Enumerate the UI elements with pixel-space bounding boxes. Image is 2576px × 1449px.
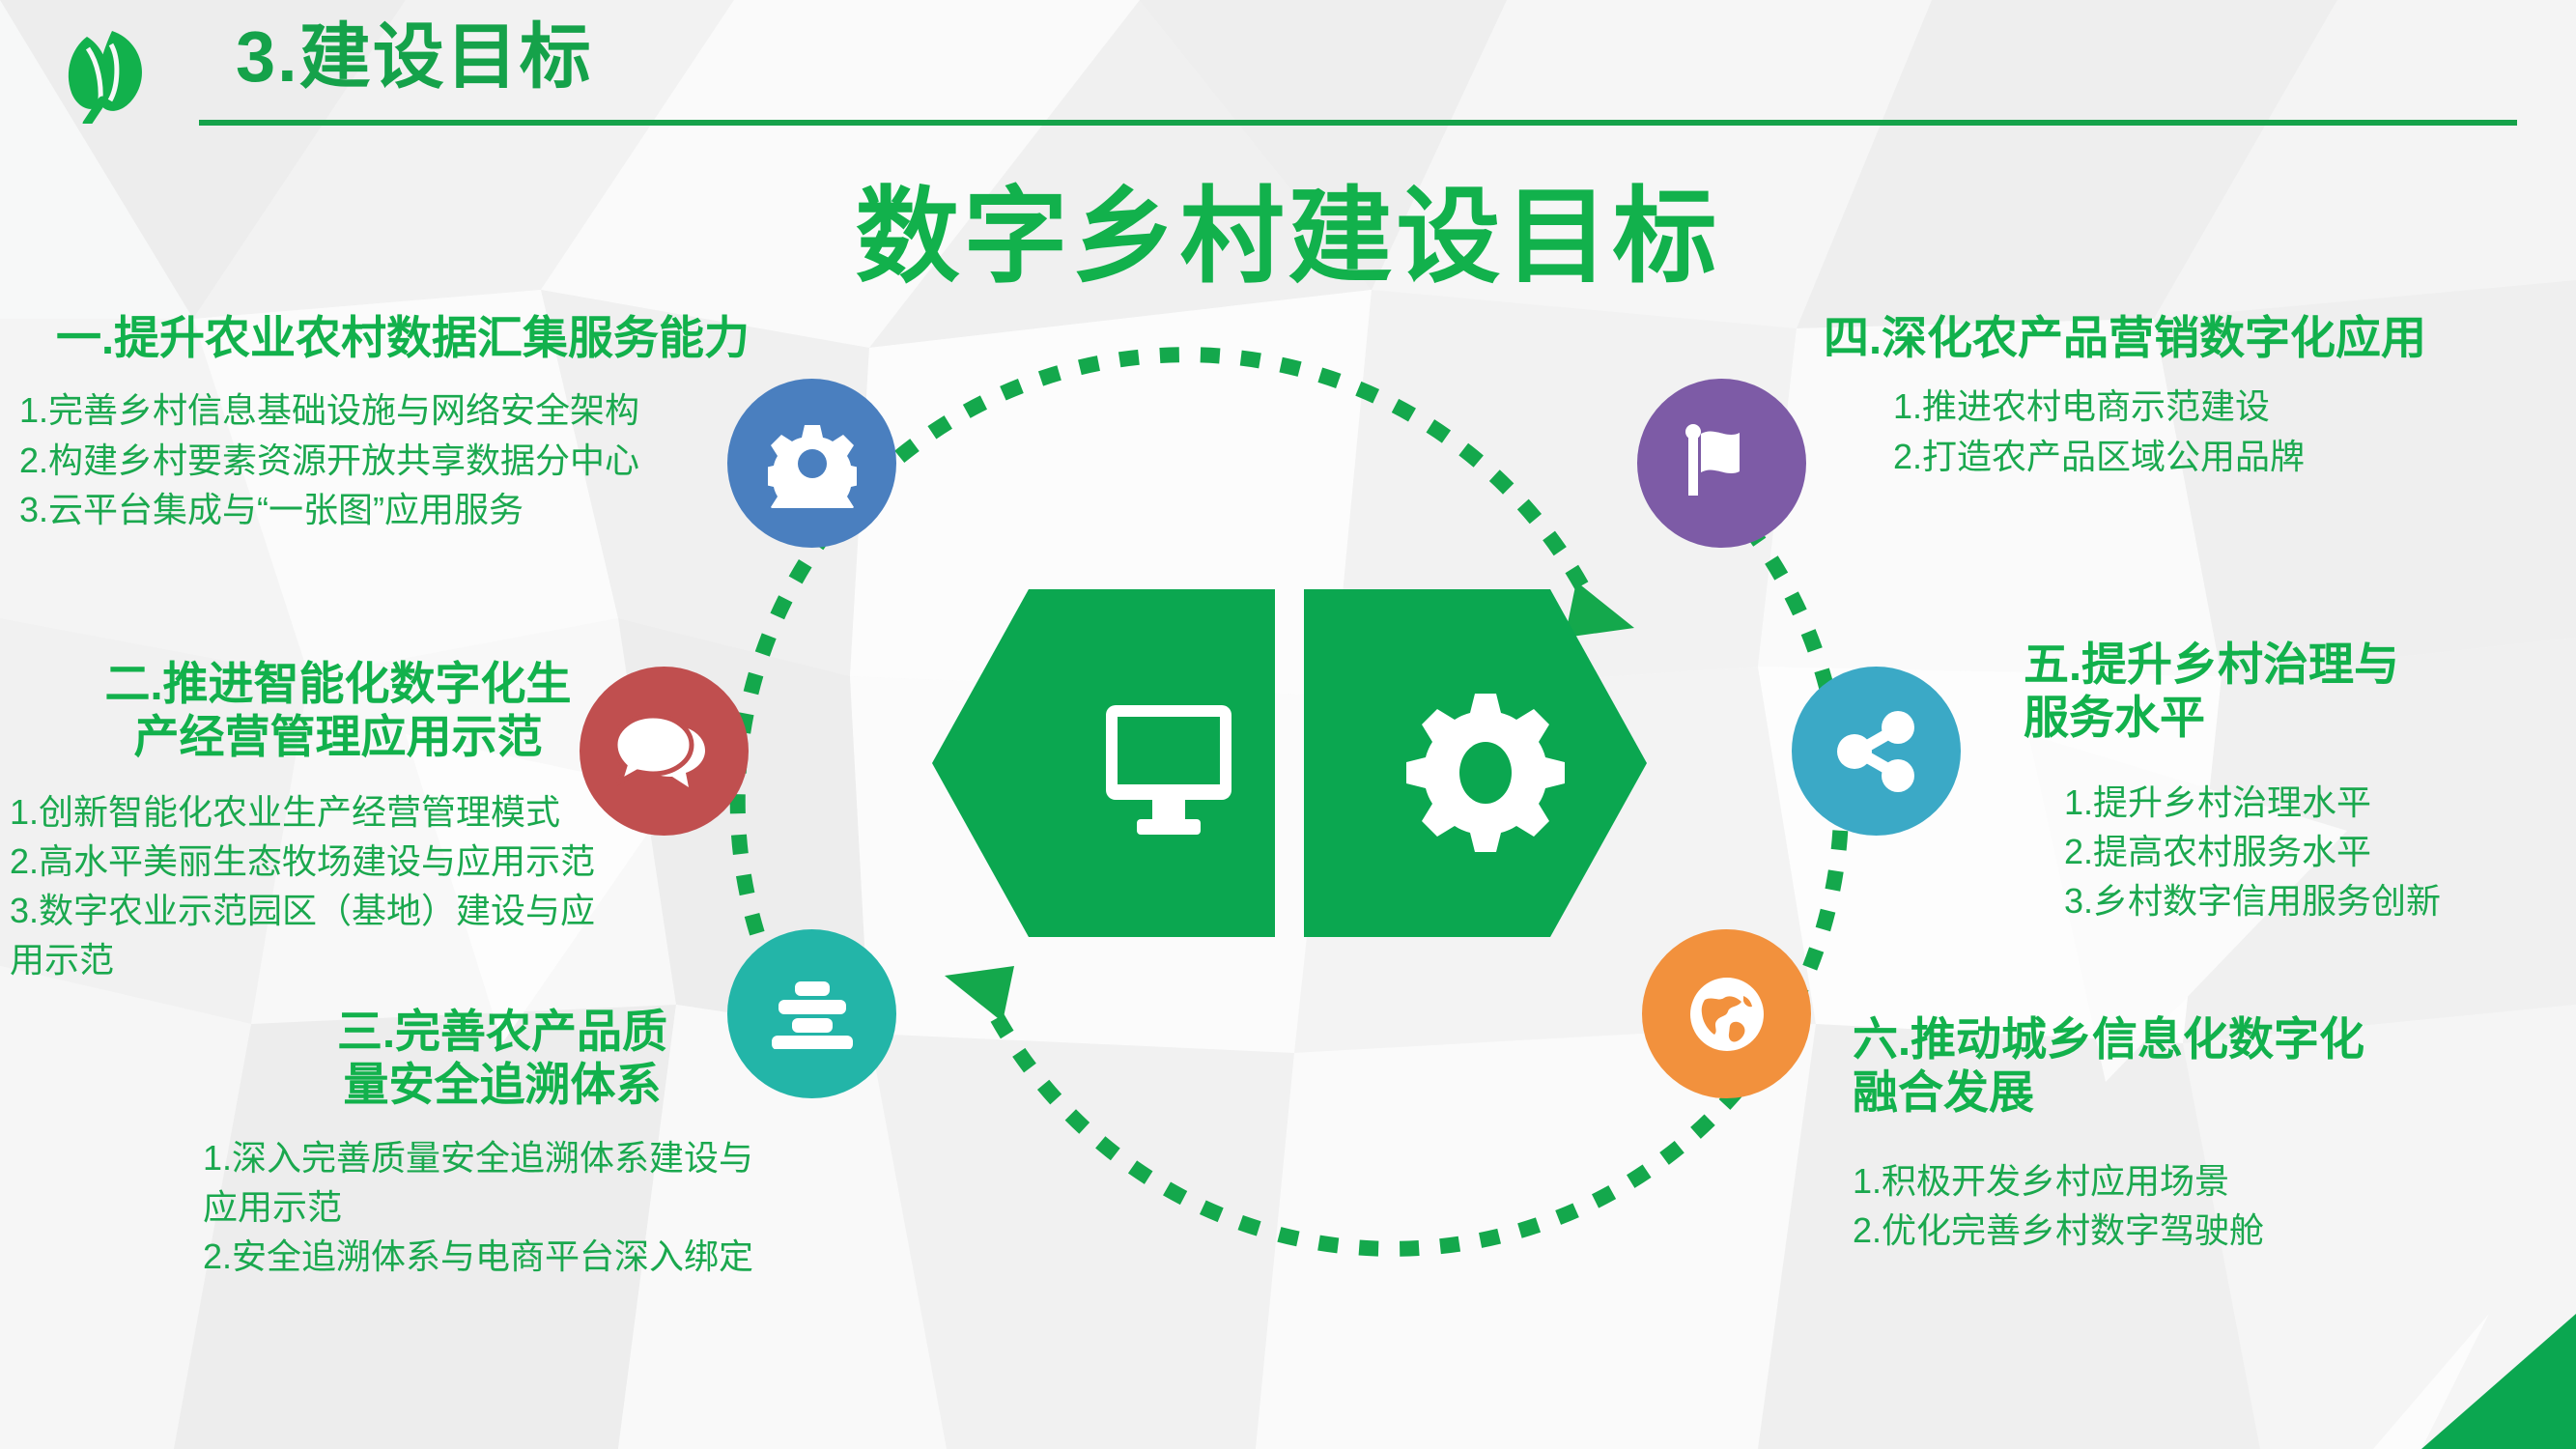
section-5-heading: 五.提升乡村治理与 服务水平 xyxy=(2024,638,2564,745)
section-block-3: 三.完善农产品质 量安全追溯体系 1.深入完善质量安全追溯体系建设与 应用示范 … xyxy=(164,1005,840,1281)
list-item: 2.提高农村服务水平 xyxy=(2064,827,2564,876)
section-4-heading: 四.深化农产品营销数字化应用 xyxy=(1729,311,2521,364)
slide-canvas: 3.建设目标 数字乡村建设目标 xyxy=(0,0,2576,1449)
section-1-heading: 一.提升农业农村数据汇集服务能力 xyxy=(19,311,918,364)
slide-header: 3.建设目标 xyxy=(0,0,2576,143)
list-item: 3.云平台集成与“一张图”应用服务 xyxy=(19,485,918,534)
section-block-1: 一.提升农业农村数据汇集服务能力 1.完善乡村信息基础设施与网络安全架构 2.构… xyxy=(19,311,918,534)
section-block-4: 四.深化农产品营销数字化应用 1.推进农村电商示范建设 2.打造农产品区域公用品… xyxy=(1729,311,2521,481)
header-divider xyxy=(199,120,2517,126)
list-item: 1.提升乡村治理水平 xyxy=(2064,778,2564,827)
list-item: 1.创新智能化农业生产经营管理模式 xyxy=(10,787,666,837)
leaf-icon xyxy=(58,15,164,124)
section-block-2: 二.推进智能化数字化生 产经营管理应用示范 1.创新智能化农业生产经营管理模式 … xyxy=(10,657,666,984)
list-item: 1.推进农村电商示范建设 xyxy=(1893,382,2521,431)
section-2-heading: 二.推进智能化数字化生 产经营管理应用示范 xyxy=(10,657,666,764)
section-3-heading: 三.完善农产品质 量安全追溯体系 xyxy=(164,1005,840,1112)
page-title: 3.建设目标 xyxy=(236,17,593,96)
gear-icon xyxy=(1406,694,1565,852)
main-title: 数字乡村建设目标 xyxy=(0,153,2576,303)
list-item: 应用示范 xyxy=(203,1182,840,1232)
list-item: 2.打造农产品区域公用品牌 xyxy=(1893,432,2521,481)
node-circle-6[interactable] xyxy=(1642,929,1811,1098)
hexagon-right xyxy=(1304,589,1647,937)
list-item: 3.数字农业示范园区（基地）建设与应 xyxy=(10,886,666,935)
list-item: 3.乡村数字信用服务创新 xyxy=(2064,876,2564,925)
list-item: 1.完善乡村信息基础设施与网络安全架构 xyxy=(19,385,918,435)
section-block-6: 六.推动城乡信息化数字化 融合发展 1.积极开发乡村应用场景 2.优化完善乡村数… xyxy=(1853,1012,2529,1255)
section-block-5: 五.提升乡村治理与 服务水平 1.提升乡村治理水平 2.提高农村服务水平 3.乡… xyxy=(2024,638,2564,925)
section-5-items: 1.提升乡村治理水平 2.提高农村服务水平 3.乡村数字信用服务创新 xyxy=(2024,778,2564,925)
corner-accent xyxy=(2315,1314,2576,1449)
list-item: 2.高水平美丽生态牧场建设与应用示范 xyxy=(10,837,666,886)
section-4-items: 1.推进农村电商示范建设 2.打造农产品区域公用品牌 xyxy=(1729,382,2521,480)
section-2-items: 1.创新智能化农业生产经营管理模式 2.高水平美丽生态牧场建设与应用示范 3.数… xyxy=(10,787,666,984)
list-item: 2.安全追溯体系与电商平台深入绑定 xyxy=(203,1232,840,1281)
list-item: 1.积极开发乡村应用场景 xyxy=(1853,1156,2529,1206)
section-6-heading: 六.推动城乡信息化数字化 融合发展 xyxy=(1853,1012,2529,1120)
list-item: 2.优化完善乡村数字驾驶舱 xyxy=(1853,1206,2529,1255)
list-item: 2.构建乡村要素资源开放共享数据分中心 xyxy=(19,436,918,485)
node-circle-5[interactable] xyxy=(1792,667,1961,836)
hexagon-left xyxy=(932,589,1275,937)
center-hexagon-pair xyxy=(932,589,1647,937)
section-6-items: 1.积极开发乡村应用场景 2.优化完善乡村数字驾驶舱 xyxy=(1853,1156,2529,1255)
list-item: 用示范 xyxy=(10,935,666,984)
share-icon xyxy=(1834,709,1919,794)
section-1-items: 1.完善乡村信息基础设施与网络安全架构 2.构建乡村要素资源开放共享数据分中心 … xyxy=(19,385,918,533)
globe-icon xyxy=(1685,973,1769,1056)
list-item: 1.深入完善质量安全追溯体系建设与 xyxy=(203,1133,840,1182)
section-3-items: 1.深入完善质量安全追溯体系建设与 应用示范 2.安全追溯体系与电商平台深入绑定 xyxy=(164,1133,840,1281)
